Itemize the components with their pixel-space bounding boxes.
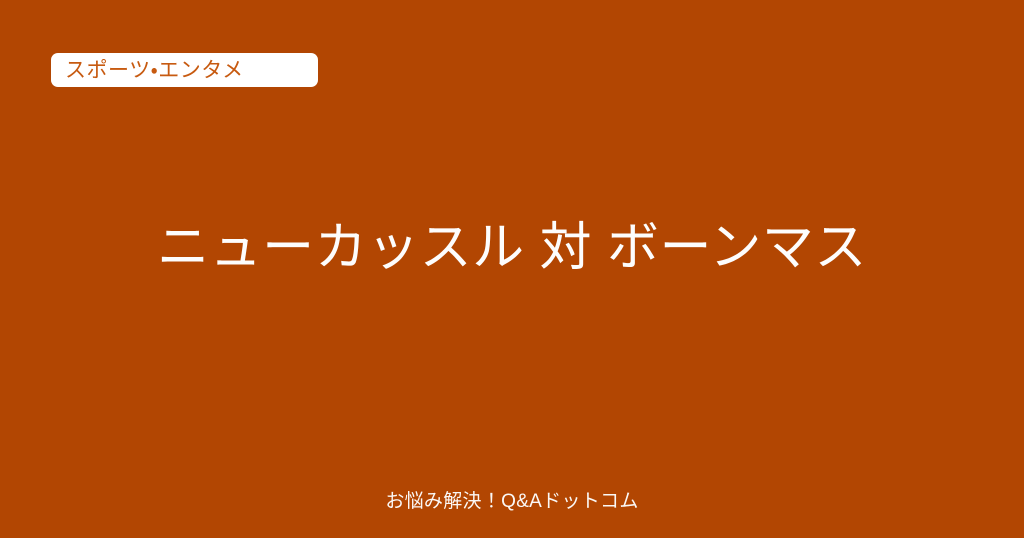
page-title: ニューカッスル 対 ボーンマス (157, 218, 867, 279)
site-name-label: お悩み解決！Q&Aドットコム (385, 492, 638, 511)
article-thumbnail-card: スポーツ・エンタメ ニューカッスル 対 ボーンマス お悩み解決！Q&Aドットコム (0, 0, 1024, 538)
title-area: ニューカッスル 対 ボーンマス (0, 212, 1024, 286)
footer-area: お悩み解決！Q&Aドットコム (0, 488, 1024, 514)
category-badge[interactable]: スポーツ・エンタメ (51, 53, 318, 87)
category-badge-label: スポーツ・エンタメ (65, 60, 244, 81)
